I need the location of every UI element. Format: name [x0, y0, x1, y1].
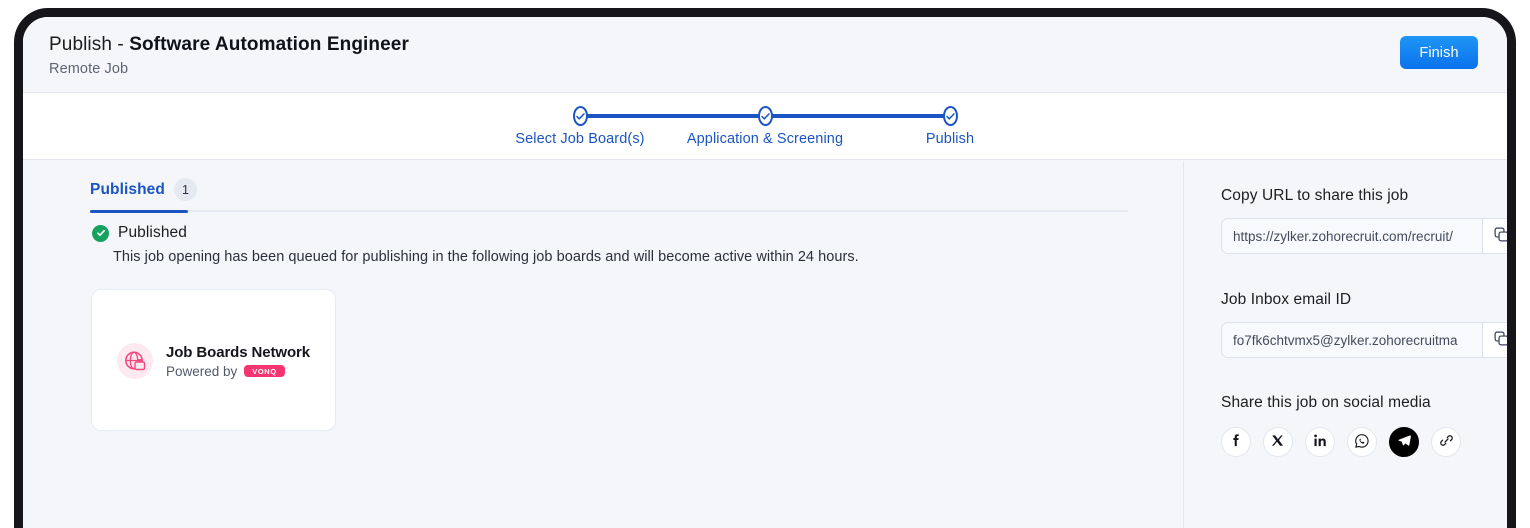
job-board-name: Job Boards Network	[166, 344, 310, 361]
job-inbox-field[interactable]: fo7fk6chtvmx5@zylker.zohorecruitma	[1221, 322, 1507, 358]
main-column: Published 1 Published This job opening h…	[23, 161, 1184, 528]
link-chain-icon	[1439, 433, 1454, 451]
stepper-label-1: Select Job Board(s)	[515, 131, 644, 147]
powered-by-row: Powered by VONQ	[166, 364, 310, 379]
finish-button[interactable]: Finish	[1400, 36, 1478, 69]
copy-url-value: https://zylker.zohorecruit.com/recruit/	[1222, 219, 1482, 253]
globe-briefcase-icon	[117, 343, 153, 379]
copy-url-label: Copy URL to share this job	[1221, 187, 1477, 205]
status-description: This job opening has been queued for pub…	[113, 249, 859, 265]
copy-icon	[1494, 227, 1507, 245]
tab-published-label: Published	[90, 181, 165, 199]
job-inbox-value: fo7fk6chtvmx5@zylker.zohorecruitma	[1222, 323, 1482, 357]
check-circle-icon	[758, 106, 773, 126]
page-subtitle: Remote Job	[49, 61, 128, 77]
share-linkedin-button[interactable]	[1305, 427, 1335, 457]
stepper-label-3: Publish	[926, 131, 974, 147]
job-board-card-inner: Job Boards Network Powered by VONQ	[117, 343, 310, 379]
social-share-block: Share this job on social media	[1221, 394, 1477, 457]
facebook-icon	[1229, 433, 1244, 451]
linkedin-icon	[1313, 433, 1328, 451]
share-facebook-button[interactable]	[1221, 427, 1251, 457]
tab-published[interactable]: Published 1	[90, 178, 197, 201]
status-header: Published	[92, 224, 187, 242]
telegram-icon	[1397, 433, 1412, 451]
powered-by-label: Powered by	[166, 364, 237, 379]
x-twitter-icon	[1271, 434, 1285, 451]
stepper: Select Job Board(s) Application & Screen…	[580, 106, 950, 126]
app-screen: Publish - Software Automation Engineer R…	[23, 17, 1507, 528]
check-circle-icon	[943, 106, 958, 126]
browser-window-frame: Publish - Software Automation Engineer R…	[14, 8, 1516, 528]
social-share-label: Share this job on social media	[1221, 394, 1477, 412]
tab-underline-track	[90, 210, 1128, 212]
share-telegram-button[interactable]	[1389, 427, 1419, 457]
status-title: Published	[118, 224, 187, 242]
copy-url-button[interactable]	[1482, 219, 1507, 253]
job-board-card[interactable]: Job Boards Network Powered by VONQ	[91, 289, 336, 431]
copy-url-field[interactable]: https://zylker.zohorecruit.com/recruit/	[1221, 218, 1507, 254]
page-header: Publish - Software Automation Engineer R…	[23, 17, 1507, 93]
check-circle-icon	[573, 106, 588, 126]
copy-email-button[interactable]	[1482, 323, 1507, 357]
tab-underline-active	[90, 210, 188, 213]
tab-bar: Published 1	[90, 178, 197, 201]
social-share-row	[1221, 427, 1477, 457]
stepper-band: Select Job Board(s) Application & Screen…	[23, 93, 1507, 160]
page-title: Publish - Software Automation Engineer	[49, 34, 409, 56]
stepper-connector-2	[765, 114, 950, 118]
check-circle-filled-icon	[92, 225, 109, 242]
share-copy-link-button[interactable]	[1431, 427, 1461, 457]
share-sidebar: Copy URL to share this job https://zylke…	[1185, 161, 1507, 528]
stepper-label-2: Application & Screening	[687, 131, 843, 147]
job-inbox-block: Job Inbox email ID fo7fk6chtvmx5@zylker.…	[1221, 291, 1477, 358]
page-title-job: Software Automation Engineer	[129, 34, 409, 55]
provider-badge: VONQ	[244, 365, 285, 378]
copy-icon	[1494, 331, 1507, 349]
share-whatsapp-button[interactable]	[1347, 427, 1377, 457]
tab-published-count: 1	[174, 178, 197, 201]
share-x-button[interactable]	[1263, 427, 1293, 457]
whatsapp-icon	[1354, 433, 1370, 452]
job-board-card-text: Job Boards Network Powered by VONQ	[166, 344, 310, 379]
job-inbox-label: Job Inbox email ID	[1221, 291, 1477, 309]
stepper-connector-1	[580, 114, 765, 118]
content-area: Published 1 Published This job opening h…	[23, 161, 1507, 528]
page-title-prefix: Publish -	[49, 34, 129, 55]
